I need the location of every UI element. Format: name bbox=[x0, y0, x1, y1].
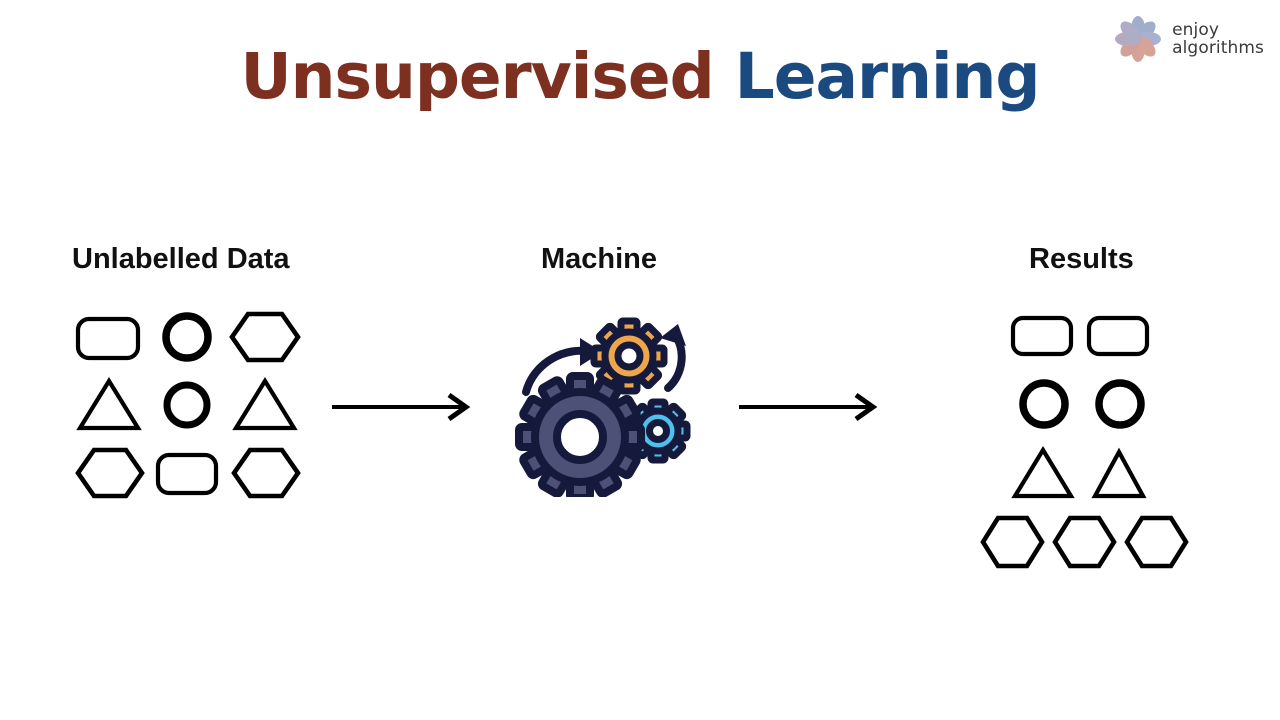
rounded-rect-shape bbox=[1081, 302, 1157, 368]
circle-shape bbox=[148, 370, 226, 438]
shape-row bbox=[1005, 302, 1191, 368]
triangle-shape bbox=[70, 370, 148, 438]
hexagon-shape bbox=[226, 438, 304, 506]
shape-row bbox=[975, 506, 1191, 576]
arrow-input-to-machine-icon bbox=[330, 392, 472, 427]
unlabelled-data-grid bbox=[70, 302, 304, 506]
hexagon-shape bbox=[975, 506, 1047, 576]
triangle-shape bbox=[1005, 440, 1081, 506]
shape-row bbox=[1005, 440, 1191, 506]
results-column-label: Results bbox=[1029, 243, 1134, 276]
gears-icon bbox=[508, 312, 698, 502]
rounded-rect-shape bbox=[1005, 302, 1081, 368]
circle-shape bbox=[148, 302, 226, 370]
rounded-rect-shape bbox=[148, 438, 226, 506]
page-title-part-1: Unsupervised bbox=[240, 40, 713, 113]
triangle-shape bbox=[226, 370, 304, 438]
results-grid bbox=[975, 302, 1191, 576]
hexagon-shape bbox=[1047, 506, 1119, 576]
rounded-rect-shape bbox=[70, 302, 148, 370]
hexagon-shape bbox=[70, 438, 148, 506]
shape-row bbox=[70, 370, 304, 438]
shape-row bbox=[70, 302, 304, 370]
brand-line-1: enjoy bbox=[1172, 21, 1264, 39]
page-title-part-2: Learning bbox=[735, 40, 1040, 113]
shape-row bbox=[1007, 368, 1191, 440]
hexagon-shape bbox=[226, 302, 304, 370]
machine-column-label: Machine bbox=[541, 243, 657, 276]
circle-shape bbox=[1083, 368, 1159, 440]
page-title: Unsupervised Learning bbox=[0, 40, 1280, 113]
circle-shape bbox=[1007, 368, 1083, 440]
triangle-shape bbox=[1081, 440, 1157, 506]
arrow-machine-to-results-icon bbox=[737, 392, 879, 427]
input-column-label: Unlabelled Data bbox=[72, 243, 290, 276]
shape-row bbox=[70, 438, 304, 506]
hexagon-shape bbox=[1119, 506, 1191, 576]
